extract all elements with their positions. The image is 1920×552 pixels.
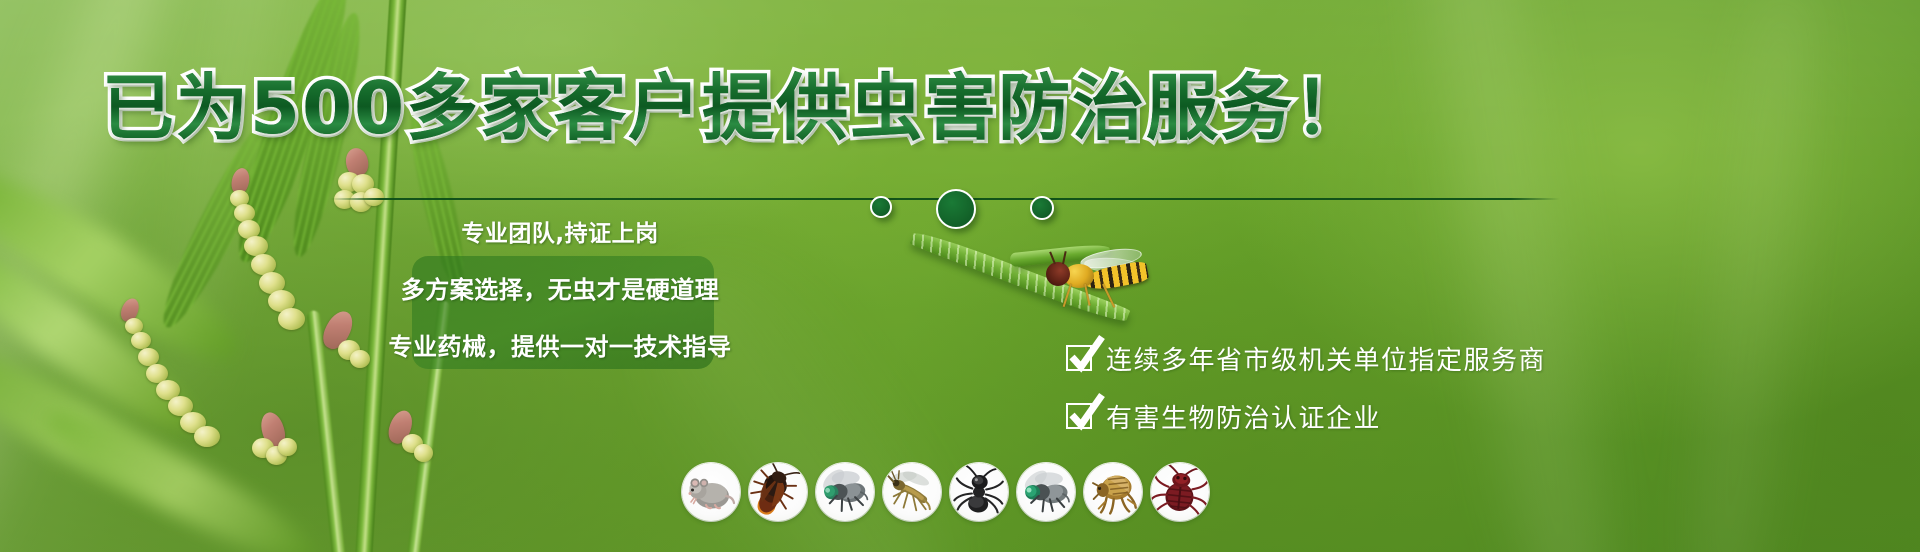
decor-dot-small-right — [1030, 196, 1054, 220]
flea-icon[interactable]: 跳蚤 — [1084, 463, 1142, 521]
fly-antenna — [1062, 251, 1066, 264]
housefly-icon[interactable]: 蝇 — [816, 463, 874, 521]
hoverfly-icon — [1040, 248, 1158, 306]
rodent-mouse-icon[interactable]: 鼠 — [682, 463, 740, 521]
fly-antenna — [1049, 252, 1055, 265]
greenbottle-fly-icon[interactable]: 绿头蝇 — [1017, 463, 1075, 521]
feature-line-3: 专业药械，提供一对一技术指导 — [330, 327, 790, 362]
bedbug-icon[interactable]: 臭虫 — [1151, 463, 1209, 521]
pest-icon-row: 鼠 蟑螂 — [682, 463, 1209, 521]
checklist-item: 有害生物防治认证企业 — [1066, 394, 1546, 438]
decor-dot-large-center — [936, 189, 976, 229]
ant-icon[interactable]: 蚂蚁 — [950, 463, 1008, 521]
banner-headline-stroke: 已为500多家客户提供虫害防治服务！ — [0, 72, 1470, 144]
feature-panel-text: 专业团队,持证上岗 多方案选择，无虫才是硬道理 专业药械，提供一对一技术指导 — [330, 210, 790, 362]
checklist-item-label: 连续多年省市级机关单位指定服务商 — [1106, 340, 1546, 377]
fly-leg — [1063, 284, 1072, 307]
checklist-item: 连续多年省市级机关单位指定服务商 — [1066, 336, 1546, 380]
credentials-checklist: 连续多年省市级机关单位指定服务商 有害生物防治认证企业 — [1066, 336, 1546, 452]
checkbox-check-icon — [1066, 403, 1092, 429]
feature-line-2: 多方案选择，无虫才是硬道理 — [330, 270, 790, 305]
feature-line-1: 专业团队,持证上岗 — [330, 214, 790, 248]
mosquito-icon[interactable]: 蚊 — [883, 463, 941, 521]
checklist-item-label: 有害生物防治认证企业 — [1106, 398, 1381, 435]
checkbox-check-icon — [1066, 345, 1092, 371]
pest-control-banner: 已为500多家客户提供虫害防治服务！ 已为500多家客户提供虫害防治服务！ 专业… — [0, 0, 1920, 552]
cockroach-icon[interactable]: 蟑螂 — [749, 463, 807, 521]
fly-head — [1046, 262, 1070, 286]
decor-dot-small-left — [870, 196, 892, 218]
